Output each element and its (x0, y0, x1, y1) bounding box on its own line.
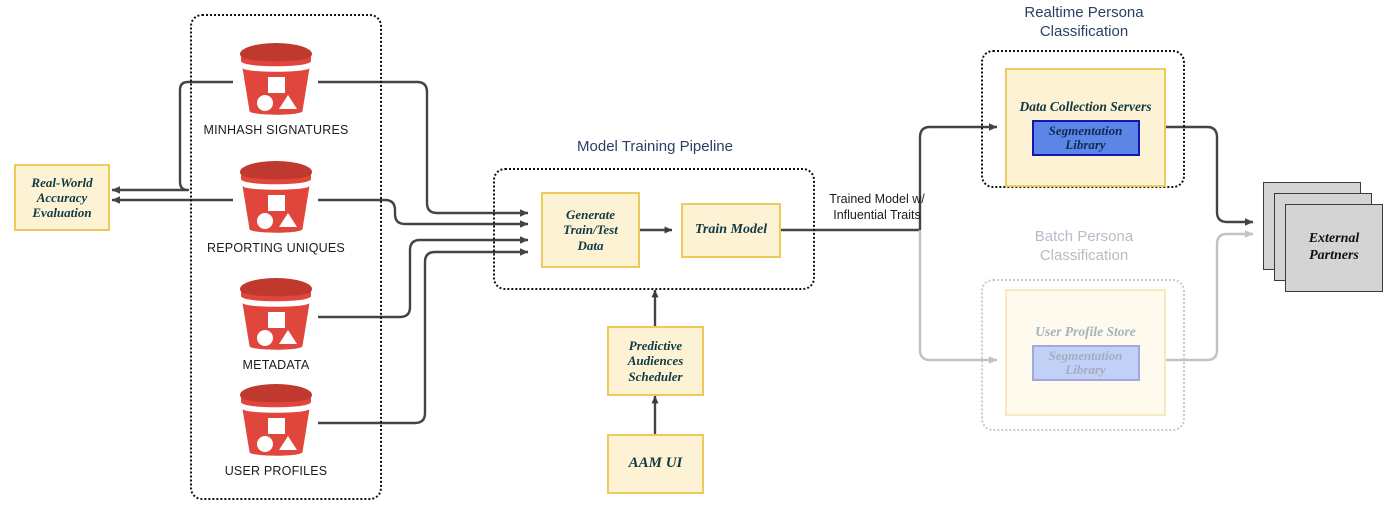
scheduler-label-line3: Scheduler (628, 369, 682, 384)
evaluation-label-line3: Evaluation (32, 205, 91, 220)
generate-label-line2: Train/Test (563, 222, 618, 237)
scheduler-label-line1: Predictive (629, 338, 682, 353)
realtime-title-line1: Realtime Persona (1003, 4, 1165, 23)
data-collection-servers-label: Data Collection Servers (1020, 99, 1152, 115)
generate-label-line1: Generate (566, 207, 615, 222)
architecture-diagram-canvas: Real-World Accuracy Evaluation MINHASH S… (0, 0, 1400, 514)
batch-title-line1: Batch Persona (1003, 228, 1165, 247)
external-partners-node[interactable]: External Partners (1263, 182, 1385, 298)
s3-bucket-icon (233, 159, 319, 237)
external-partners-sheet-front: External Partners (1285, 204, 1383, 292)
batch-persona-classification-title: Batch Persona Classification (1003, 228, 1165, 266)
realtime-persona-classification-title: Realtime Persona Classification (1003, 4, 1165, 42)
data-collection-servers-node[interactable]: Data Collection Servers Segmentation Lib… (1005, 68, 1166, 187)
train-model-node[interactable]: Train Model (681, 203, 781, 258)
evaluation-label-line2: Accuracy (37, 190, 88, 205)
bucket-metadata[interactable]: METADATA (233, 276, 319, 372)
external-partners-label-line1: External (1309, 231, 1360, 248)
train-model-label: Train Model (695, 222, 767, 239)
aam-ui-node[interactable]: AAM UI (607, 434, 704, 494)
bucket-reporting-uniques[interactable]: REPORTING UNIQUES (233, 159, 319, 255)
trained-model-edge-label: Trained Model w/ Influential Traits (821, 192, 933, 223)
user-profile-store-node[interactable]: User Profile Store Segmentation Library (1005, 289, 1166, 416)
bucket-label: MINHASH SIGNATURES (203, 123, 348, 137)
bucket-label: USER PROFILES (225, 464, 328, 478)
trained-model-label-line2: Influential Traits (821, 208, 933, 224)
model-training-pipeline-title: Model Training Pipeline (495, 138, 815, 157)
seglib-label-line1: Segmentation (1049, 349, 1123, 364)
segmentation-library-batch[interactable]: Segmentation Library (1032, 345, 1140, 381)
generate-train-test-data-node[interactable]: Generate Train/Test Data (541, 192, 640, 268)
bucket-user-profiles[interactable]: USER PROFILES (233, 382, 319, 478)
evaluation-label-line1: Real-World (31, 175, 92, 190)
scheduler-label-line2: Audiences (628, 353, 684, 368)
s3-bucket-icon (233, 382, 319, 460)
seglib-label-line1: Segmentation (1049, 124, 1123, 139)
predictive-audiences-scheduler-node[interactable]: Predictive Audiences Scheduler (607, 326, 704, 396)
bucket-label: REPORTING UNIQUES (207, 241, 345, 255)
seglib-label-line2: Library (1065, 363, 1105, 378)
seglib-label-line2: Library (1065, 138, 1105, 153)
generate-label-line3: Data (578, 238, 604, 253)
bucket-minhash-signatures[interactable]: MINHASH SIGNATURES (233, 41, 319, 137)
batch-title-line2: Classification (1003, 247, 1165, 266)
bucket-label: METADATA (243, 358, 310, 372)
segmentation-library-realtime[interactable]: Segmentation Library (1032, 120, 1140, 156)
trained-model-label-line1: Trained Model w/ (821, 192, 933, 208)
s3-bucket-icon (233, 276, 319, 354)
external-partners-label-line2: Partners (1309, 248, 1360, 265)
realtime-title-line2: Classification (1003, 23, 1165, 42)
s3-bucket-icon (233, 41, 319, 119)
real-world-accuracy-evaluation-node[interactable]: Real-World Accuracy Evaluation (14, 164, 110, 231)
user-profile-store-label: User Profile Store (1035, 324, 1136, 340)
aam-ui-label: AAM UI (629, 455, 683, 473)
